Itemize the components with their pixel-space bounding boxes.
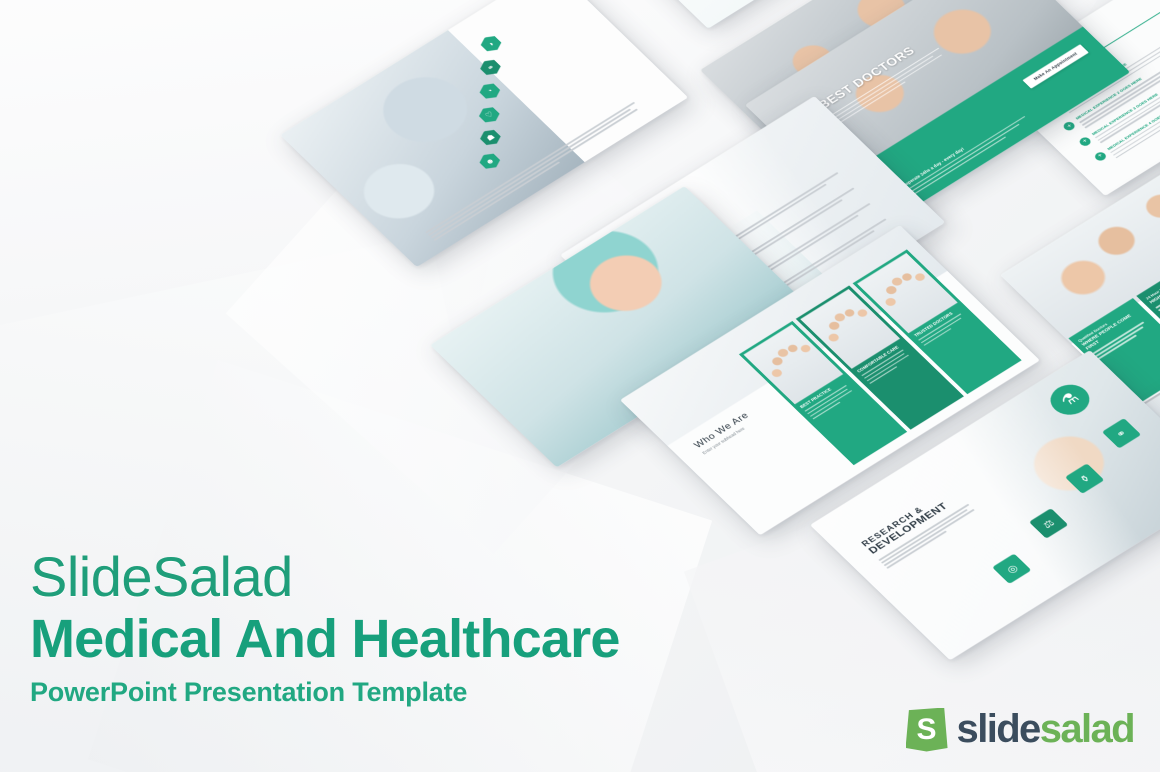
page-title: Medical And Healthcare [30, 609, 730, 669]
dna-hex-icon[interactable]: ⚭ [477, 57, 504, 78]
poster-canvas: NEUROLOGY DOCTOR NAME NEUROLOGICAL DOCTO… [0, 0, 1160, 772]
logo-text-slide: slide [957, 707, 1040, 751]
brain-hex-icon[interactable]: ◔ [476, 80, 503, 101]
lungs-hex-icon[interactable]: ♡ [476, 104, 503, 125]
slidesalad-logo-mark: S [906, 708, 948, 752]
headline-block: SlideSalad Medical And Healthcare PowerP… [30, 548, 730, 708]
page-subtitle: PowerPoint Presentation Template [30, 677, 730, 708]
brand-name: SlideSalad [30, 548, 730, 607]
tooth-hex-icon[interactable]: ☗ [477, 127, 504, 148]
slidesalad-logo[interactable]: S slidesalad [906, 707, 1134, 752]
logo-text-salad: salad [1040, 707, 1134, 751]
slidesalad-logo-text: slidesalad [957, 707, 1134, 752]
